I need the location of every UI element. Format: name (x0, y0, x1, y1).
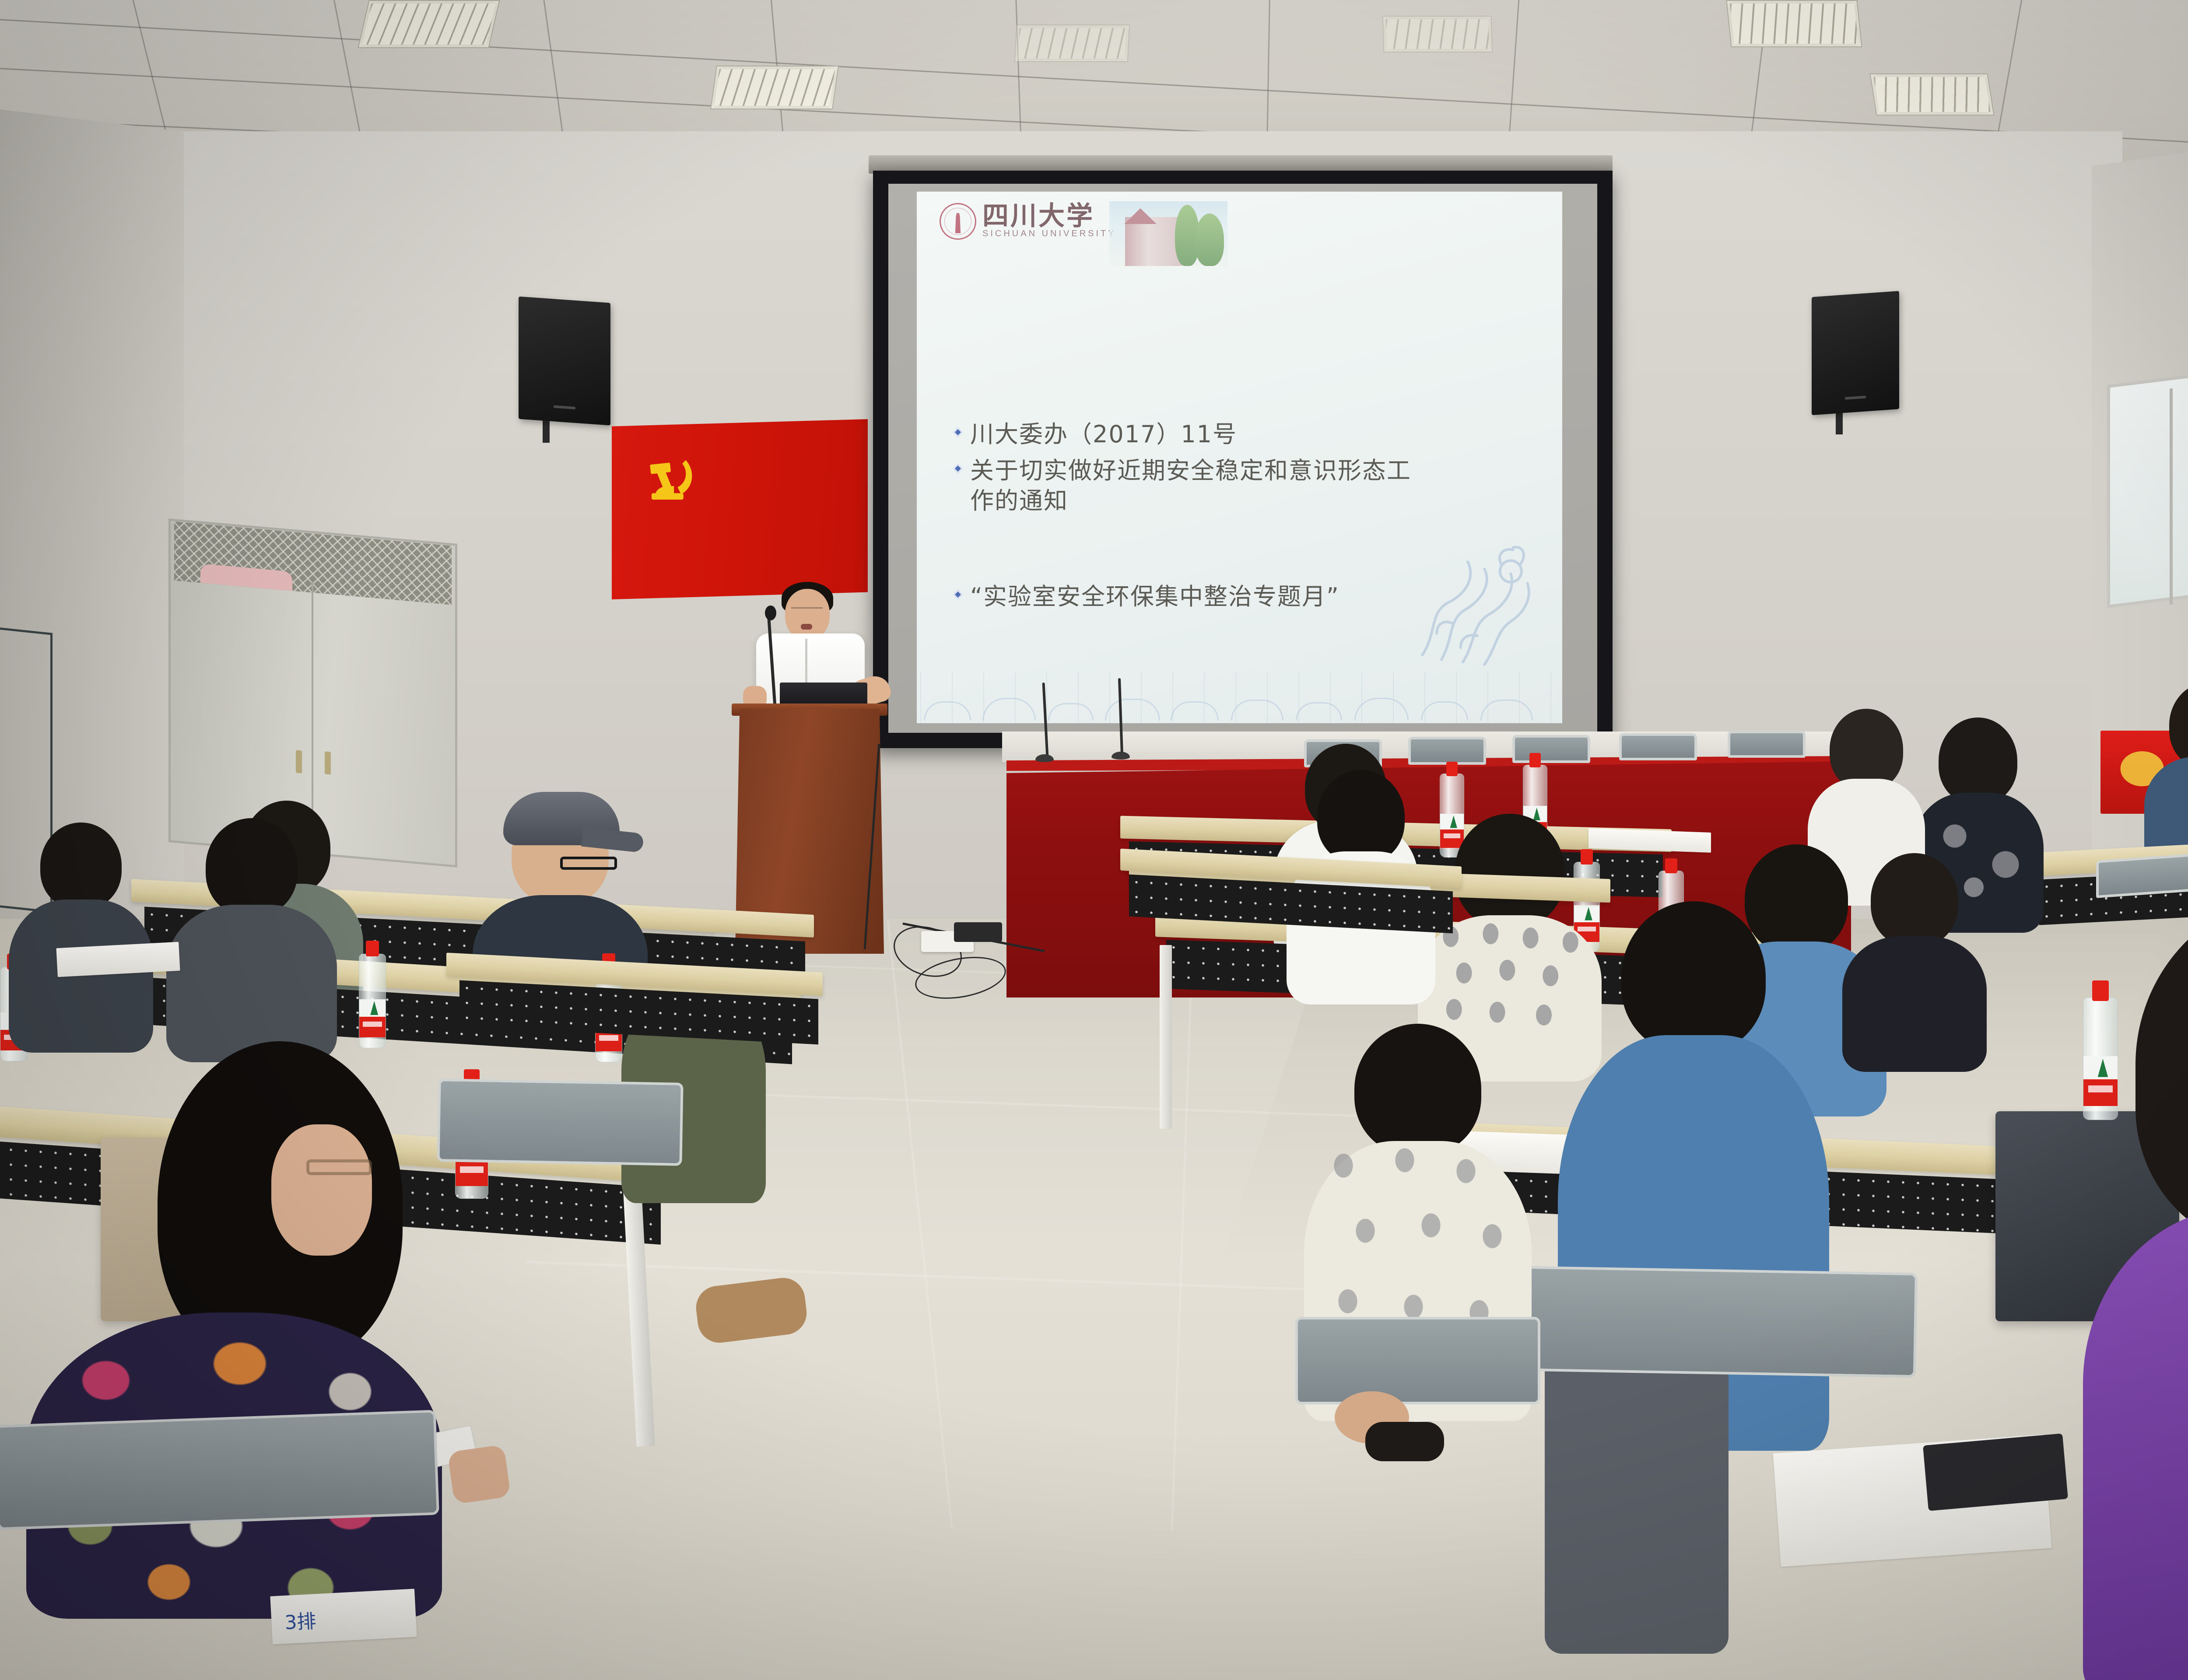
presenter-mouth (801, 624, 812, 630)
slide-bullet: 川大委办（2017）11号 (954, 419, 1536, 449)
podium-microphone-head (765, 605, 776, 620)
stage-chair[interactable] (1619, 733, 1697, 760)
wave-arc (1105, 699, 1160, 721)
classroom-chair[interactable] (2096, 853, 2188, 898)
university-seal-icon (940, 203, 976, 240)
bottle-cap (1529, 753, 1541, 767)
ceiling-light-panel (1014, 24, 1130, 62)
stage-chair[interactable] (1728, 731, 1806, 758)
table-microphone-base (1035, 754, 1054, 762)
head (1317, 770, 1405, 864)
sichuan-university-logo: 四川大学 SICHUAN UNIVERSITY (940, 203, 1116, 240)
loudspeaker-left (519, 297, 610, 426)
bottle-cap (1665, 858, 1677, 873)
bullet-diamond-icon (953, 590, 963, 600)
audience-member (2144, 682, 2188, 871)
window-mullion (2170, 388, 2173, 605)
wave-arc (1421, 701, 1468, 721)
head-hair (2135, 892, 2188, 1251)
classroom-chair[interactable] (1295, 1317, 1540, 1404)
desk-tag-text: 3排 (270, 1589, 416, 1635)
bullet-diamond-icon (953, 427, 963, 437)
campus-tree (1195, 213, 1224, 266)
ceiling-light-panel (1726, 0, 1862, 47)
torso (9, 899, 153, 1053)
bottle-cap (366, 941, 379, 957)
table-microphone-base (1112, 752, 1130, 759)
wave-arc (924, 701, 971, 721)
wave-arc (1296, 702, 1342, 721)
wave-arc (1480, 700, 1533, 721)
head (1830, 709, 1903, 790)
purple-shirt (2083, 1207, 2188, 1680)
university-name-en: SICHUAN UNIVERSITY (982, 229, 1116, 239)
campus-roof (1124, 208, 1157, 224)
wave-arc (1354, 698, 1409, 721)
audience-member-purple (2083, 892, 2188, 1680)
wave-arc (1171, 701, 1219, 721)
glasses-icon (306, 1159, 372, 1175)
torso (1842, 936, 1987, 1072)
campus-building (1125, 217, 1182, 266)
ceiling-light-panel (710, 66, 839, 109)
wave-arc (982, 698, 1036, 721)
head (40, 822, 122, 909)
tablet-device[interactable] (1923, 1433, 2068, 1511)
presenter-glasses-icon (791, 607, 823, 613)
slide-bullet-text: “实验室安全环保集中整治专题月” (970, 581, 1339, 612)
door-handle-left[interactable] (296, 750, 302, 773)
audience-member (9, 822, 153, 1054)
ceiling-light-panel (1869, 73, 1994, 115)
right-window[interactable] (2107, 369, 2188, 608)
handout[interactable] (1588, 828, 1711, 853)
water-bottle[interactable] (359, 954, 386, 1048)
wave-arc (1048, 703, 1094, 721)
slide-bullet-text: 川大委办（2017）11号 (970, 419, 1237, 449)
bottle-cap (1446, 762, 1458, 776)
head (1621, 901, 1766, 1053)
campus-photo (1109, 201, 1227, 266)
university-name-cn: 四川大学 (982, 204, 1116, 229)
wave-arc (1231, 700, 1283, 721)
dragon-watermark-icon (1400, 540, 1545, 672)
audience-member (166, 818, 337, 1063)
head (1939, 717, 2017, 804)
head (206, 818, 298, 916)
head (1871, 853, 1958, 947)
slide-bullet: 关于切实做好近期安全稳定和意识形态工 作的通知 (954, 455, 1536, 516)
power-adapter (954, 922, 1002, 942)
ceiling-light-panel (358, 0, 500, 48)
loudspeaker-right (1812, 291, 1899, 415)
presentation-slide: 四川大学 SICHUAN UNIVERSITY 川大委办（2017）11号 关于 (917, 192, 1562, 723)
slide-bullet-text: 关于切实做好近期安全稳定和意识形态工 作的通知 (970, 455, 1411, 516)
presenter-head (785, 589, 830, 640)
classroom-chair[interactable] (437, 1078, 683, 1166)
bullet-diamond-icon (953, 464, 963, 474)
hand (447, 1445, 511, 1505)
head (1455, 814, 1564, 928)
classroom-chair[interactable] (0, 1410, 439, 1530)
glasses-icon (560, 857, 617, 870)
stage-chair[interactable] (1408, 737, 1486, 765)
wave-pattern-border (917, 672, 1562, 723)
trousers (1545, 1347, 1729, 1654)
head (271, 1124, 372, 1256)
door-handle-right[interactable] (325, 751, 331, 774)
torso (166, 905, 337, 1062)
audience-member (1842, 853, 1987, 1059)
desk-tag: 3排 (270, 1589, 417, 1644)
desk-leg (1160, 945, 1172, 1129)
lecture-hall-photo: 四川大学 SICHUAN UNIVERSITY 川大委办（2017）11号 关于 (0, 0, 2188, 1680)
stage-chair[interactable] (1512, 735, 1590, 763)
head (2169, 682, 2188, 768)
sandal (1365, 1422, 1444, 1461)
ceiling-light-panel (1382, 16, 1493, 52)
hammer-and-sickle-icon (643, 451, 702, 510)
